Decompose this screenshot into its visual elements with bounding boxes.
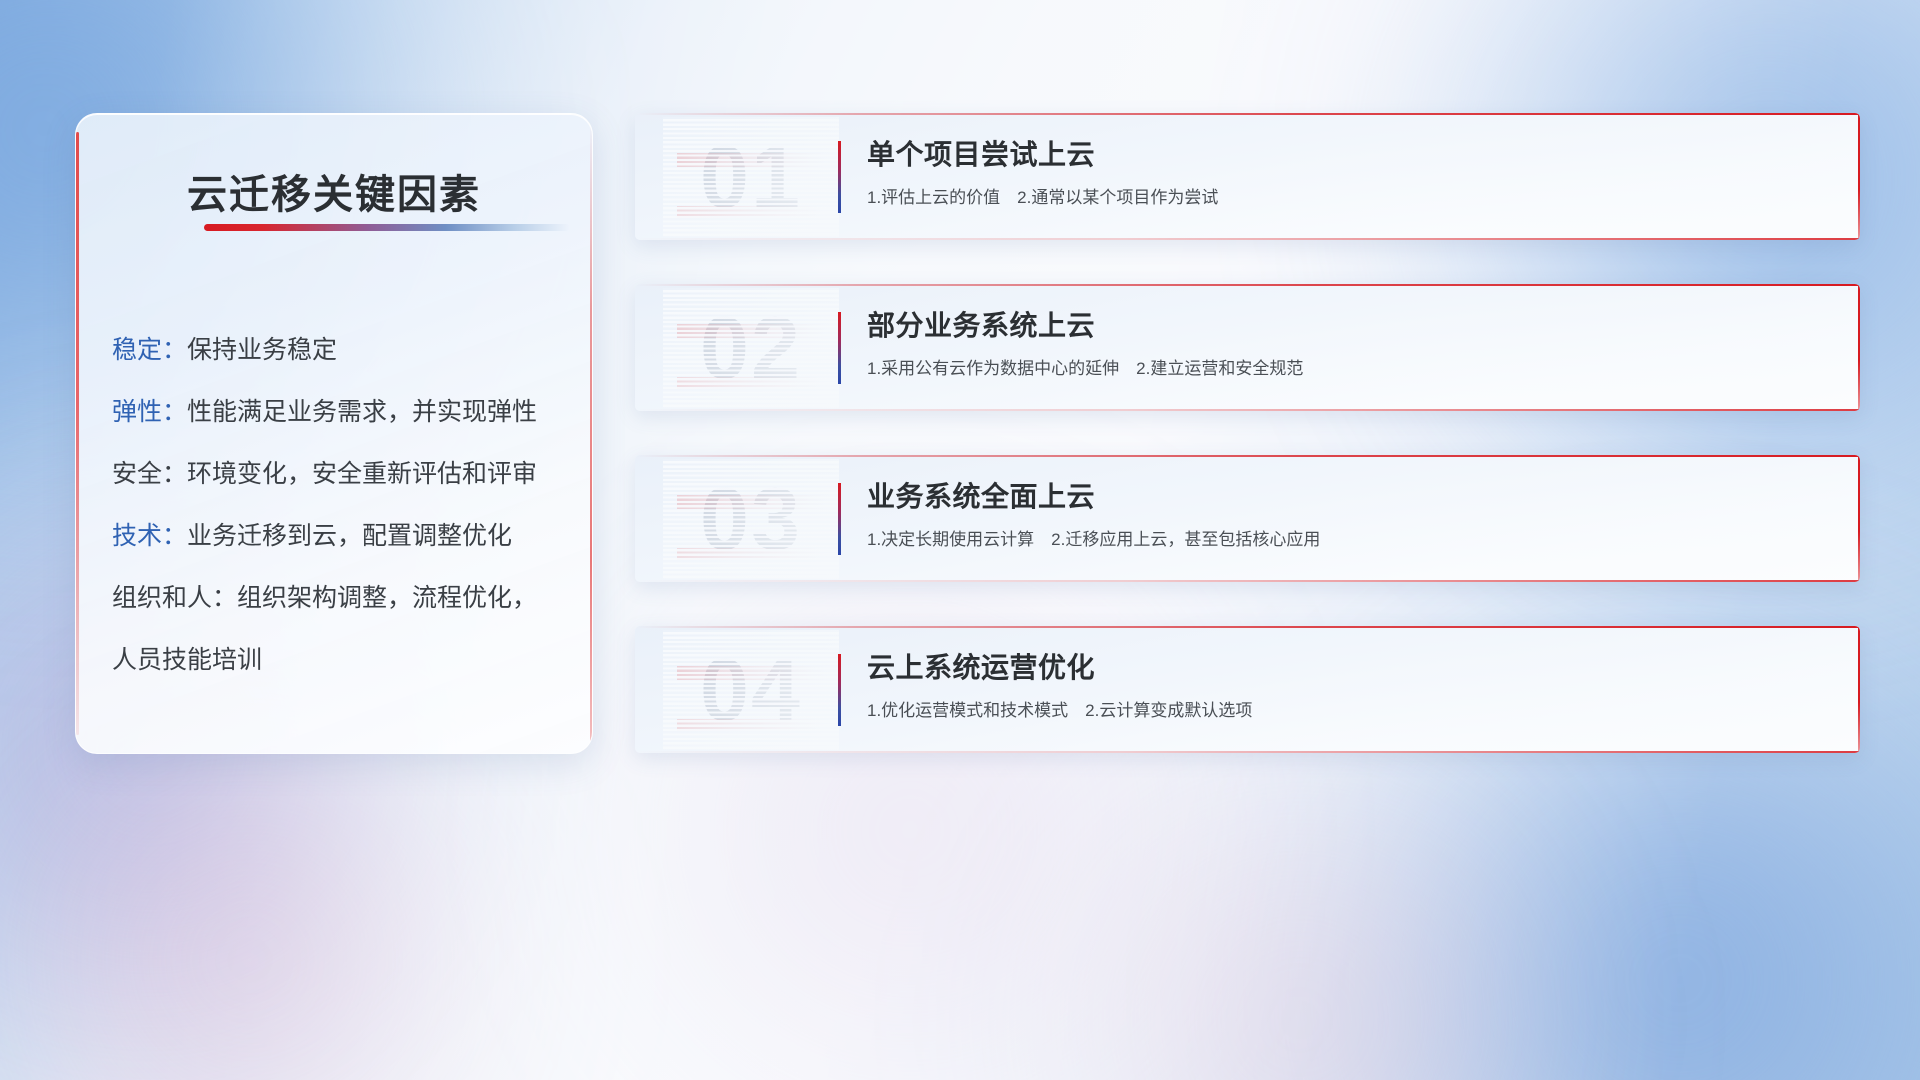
- stage-card-subtitle: 1.采用公有云作为数据中心的延伸 2.建立运营和安全规范: [867, 356, 1830, 382]
- stage-number-badge: 01: [663, 117, 839, 237]
- stage-card-bottom-edge: [635, 580, 1860, 582]
- stage-card[interactable]: 02部分业务系统上云1.采用公有云作为数据中心的延伸 2.建立运营和安全规范: [635, 284, 1860, 411]
- stage-card-title: 业务系统全面上云: [867, 477, 1830, 517]
- stage-card-subtitle: 1.优化运营模式和技术模式 2.云计算变成默认选项: [867, 698, 1830, 724]
- stage-divider-bar: [838, 483, 841, 555]
- factor-value: 保持业务稳定: [187, 336, 337, 364]
- stage-card-body: 单个项目尝试上云1.评估上云的价值 2.通常以某个项目作为尝试: [867, 135, 1830, 211]
- factor-label: 弹性：: [112, 398, 187, 426]
- key-factors-list: 稳定：保持业务稳定弹性：性能满足业务需求，并实现弹性安全：环境变化，安全重新评估…: [112, 319, 566, 691]
- factor-value: 业务迁移到云，配置调整优化: [187, 522, 512, 550]
- factor-row: 人员技能培训: [112, 629, 566, 691]
- stage-divider-bar: [838, 141, 841, 213]
- factor-row: 技术：业务迁移到云，配置调整优化: [112, 505, 566, 567]
- stage-number-fade: [663, 288, 839, 408]
- factor-row: 稳定：保持业务稳定: [112, 319, 566, 381]
- factor-label: 安全：: [112, 460, 187, 488]
- factor-label: 技术：: [112, 522, 187, 550]
- key-factors-panel: 云迁移关键因素 稳定：保持业务稳定弹性：性能满足业务需求，并实现弹性安全：环境变…: [75, 113, 593, 754]
- stage-card[interactable]: 01单个项目尝试上云1.评估上云的价值 2.通常以某个项目作为尝试: [635, 113, 1860, 240]
- migration-stage-cards: 01单个项目尝试上云1.评估上云的价值 2.通常以某个项目作为尝试02部分业务系…: [635, 113, 1860, 797]
- factor-value: 性能满足业务需求，并实现弹性: [187, 398, 537, 426]
- stage-card-body: 部分业务系统上云1.采用公有云作为数据中心的延伸 2.建立运营和安全规范: [867, 306, 1830, 382]
- factor-row: 弹性：性能满足业务需求，并实现弹性: [112, 381, 566, 443]
- factor-label: 稳定：: [112, 336, 187, 364]
- stage-card-bottom-edge: [635, 238, 1860, 240]
- stage-card[interactable]: 03业务系统全面上云1.决定长期使用云计算 2.迁移应用上云，甚至包括核心应用: [635, 455, 1860, 582]
- title-underline-rule: [204, 224, 570, 231]
- stage-number-fade: [663, 117, 839, 237]
- factor-value: 组织架构调整，流程优化，: [237, 584, 537, 612]
- stage-card-title: 单个项目尝试上云: [867, 135, 1830, 175]
- stage-number-badge: 03: [663, 459, 839, 579]
- stage-card-bottom-edge: [635, 751, 1860, 753]
- slide-stage: 云迁移关键因素 稳定：保持业务稳定弹性：性能满足业务需求，并实现弹性安全：环境变…: [0, 0, 1920, 1080]
- stage-card-subtitle: 1.评估上云的价值 2.通常以某个项目作为尝试: [867, 185, 1830, 211]
- stage-card-body: 业务系统全面上云1.决定长期使用云计算 2.迁移应用上云，甚至包括核心应用: [867, 477, 1830, 553]
- factor-row: 组织和人：组织架构调整，流程优化，: [112, 567, 566, 629]
- stage-number-fade: [663, 630, 839, 750]
- stage-card-title: 云上系统运营优化: [867, 648, 1830, 688]
- stage-number-badge: 02: [663, 288, 839, 408]
- page-title: 云迁移关键因素: [76, 162, 592, 220]
- factor-label: 组织和人：: [112, 584, 237, 612]
- stage-card[interactable]: 04云上系统运营优化1.优化运营模式和技术模式 2.云计算变成默认选项: [635, 626, 1860, 753]
- factor-value: 环境变化，安全重新评估和评审: [187, 460, 537, 488]
- stage-number-fade: [663, 459, 839, 579]
- stage-card-subtitle: 1.决定长期使用云计算 2.迁移应用上云，甚至包括核心应用: [867, 527, 1830, 553]
- stage-card-bottom-edge: [635, 409, 1860, 411]
- stage-number-badge: 04: [663, 630, 839, 750]
- factor-value: 人员技能培训: [112, 646, 262, 674]
- factor-row: 安全：环境变化，安全重新评估和评审: [112, 443, 566, 505]
- stage-card-body: 云上系统运营优化1.优化运营模式和技术模式 2.云计算变成默认选项: [867, 648, 1830, 724]
- stage-divider-bar: [838, 312, 841, 384]
- stage-divider-bar: [838, 654, 841, 726]
- stage-card-title: 部分业务系统上云: [867, 306, 1830, 346]
